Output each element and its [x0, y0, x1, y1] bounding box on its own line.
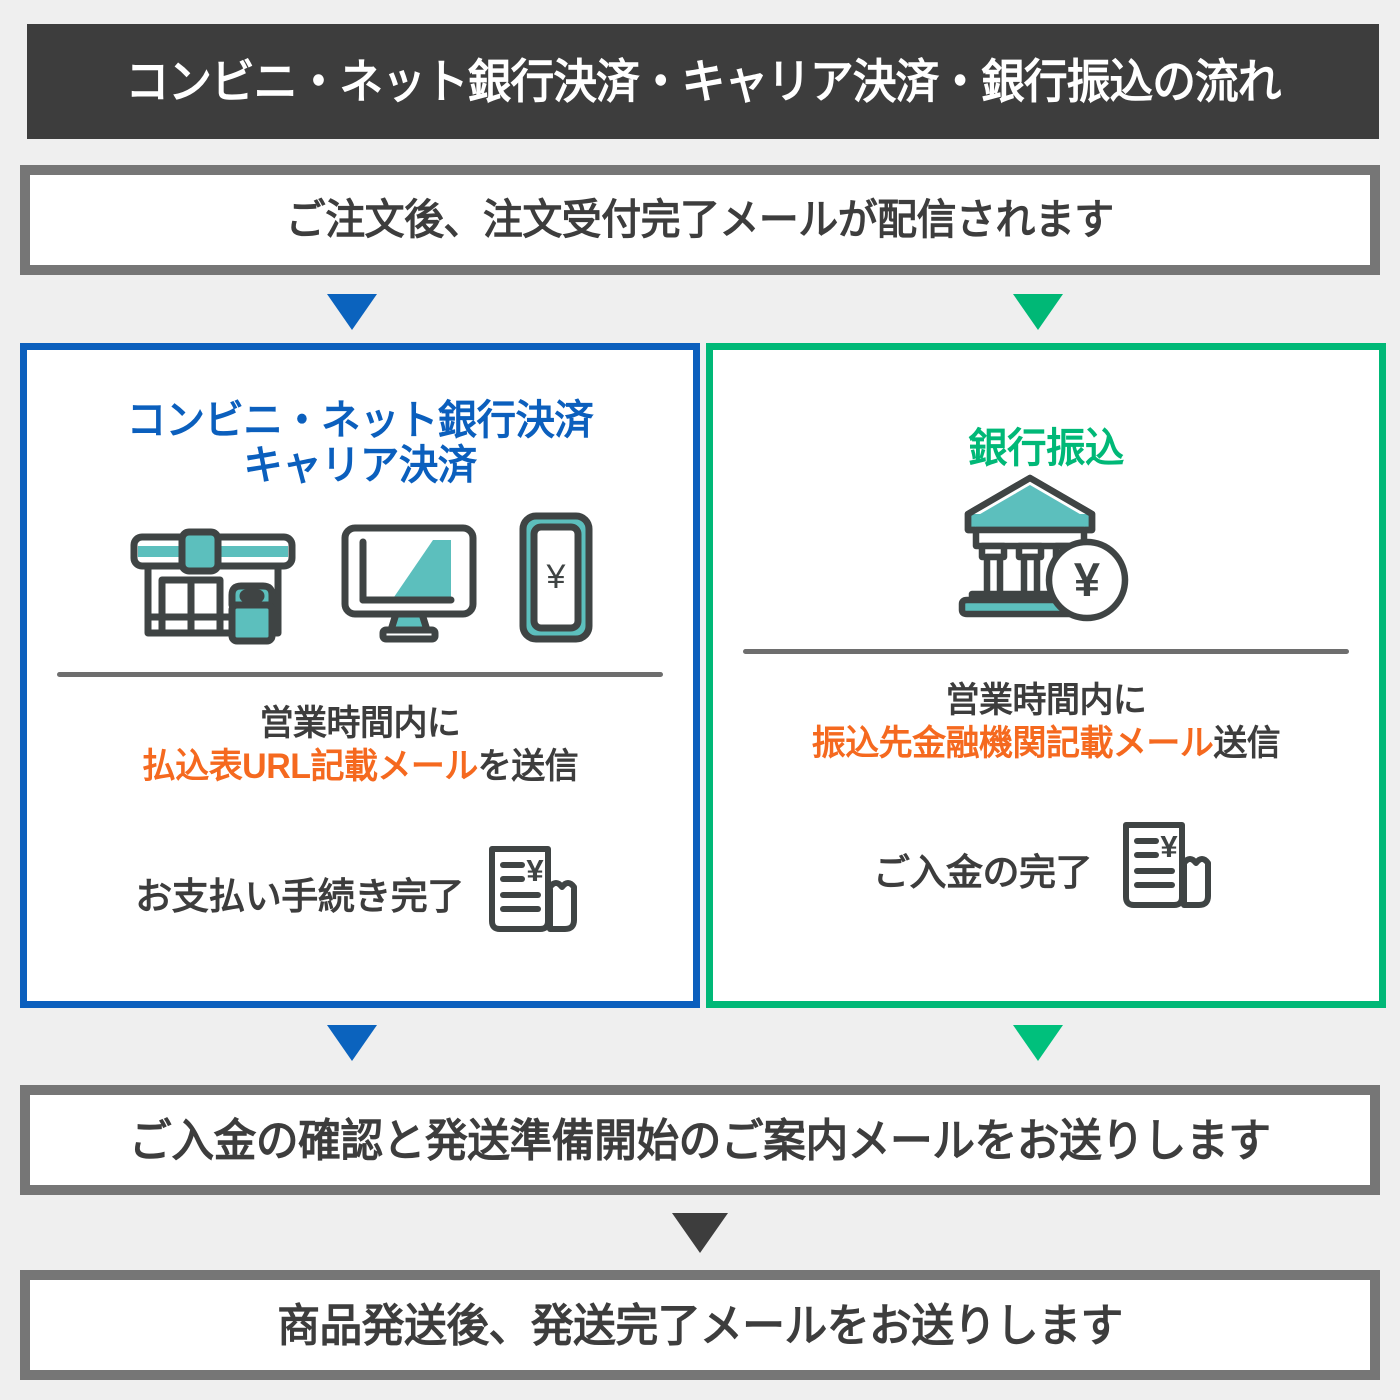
invoice-yen-symbol: ¥ [1160, 829, 1178, 864]
conveni-icon-row: ¥ [27, 510, 693, 650]
conveni-completion-row: お支払い手続き完了 ¥ [27, 843, 693, 943]
desktop-monitor-icon [339, 520, 479, 650]
conveni-completion-label: お支払い手続き完了 [135, 866, 464, 920]
conveni-note-highlight: 払込表URL記載メール [142, 747, 478, 786]
payment-flow-diagram: コンビニ・ネット銀行決済・キャリア決済・銀行振込の流れ ご注文後、注文受付完了メ… [0, 0, 1400, 1400]
step-payment-confirmed-label: ご入金の確認と発送準備開始のご案内メールをお送りします [129, 1118, 1270, 1163]
bank-building-yen-icon: ¥ [954, 472, 1139, 627]
convenience-store-icon [126, 525, 301, 650]
smartphone-yen-symbol: ¥ [545, 558, 565, 596]
bank-yen-symbol: ¥ [1073, 553, 1099, 606]
bank-completion-label: ご入金の完了 [873, 842, 1092, 896]
conveni-note: 営業時間内に 払込表URL記載メールを送信 [27, 703, 693, 788]
arrow-down-from-conveni-panel [327, 1025, 377, 1061]
invoice-yen-icon: ¥ [480, 843, 585, 943]
method-panel-bank-heading: 銀行振込 [713, 350, 1379, 471]
step-shipped-box: 商品発送後、発送完了メールをお送りします [20, 1270, 1380, 1380]
step-order-confirmation-box: ご注文後、注文受付完了メールが配信されます [20, 165, 1380, 275]
arrow-down-to-conveni-panel [327, 294, 377, 330]
invoice-yen-icon: ¥ [1114, 819, 1219, 919]
bank-note-highlight: 振込先金融機関記載メール [812, 724, 1214, 763]
method-panel-conveni-heading-line1: コンビニ・ネット銀行決済 [40, 398, 679, 443]
method-panel-conveni: コンビニ・ネット銀行決済 キャリア決済 [20, 343, 700, 1008]
bank-icon-row: ¥ [713, 487, 1379, 627]
invoice-yen-symbol: ¥ [526, 853, 544, 888]
diagram-title-bar: コンビニ・ネット銀行決済・キャリア決済・銀行振込の流れ [27, 24, 1379, 139]
smartphone-yen-icon: ¥ [517, 510, 595, 650]
page-title: コンビニ・ネット銀行決済・キャリア決済・銀行振込の流れ [125, 58, 1280, 105]
method-panel-conveni-heading-line2: キャリア決済 [40, 443, 679, 488]
bank-note: 営業時間内に 振込先金融機関記載メール送信 [713, 680, 1379, 765]
method-panel-bank-heading-line1: 銀行振込 [726, 426, 1365, 471]
method-panel-bank: 銀行振込 [706, 343, 1386, 1008]
arrow-down-from-bank-panel [1013, 1025, 1063, 1061]
conveni-note-line1: 営業時間内に [37, 703, 683, 746]
conveni-note-suffix: を送信 [478, 747, 578, 786]
bank-panel-divider [743, 649, 1349, 654]
bank-note-line1: 営業時間内に [723, 680, 1369, 723]
arrow-down-to-shipped [672, 1213, 728, 1253]
conveni-note-line2: 払込表URL記載メールを送信 [37, 746, 683, 789]
step-order-confirmation-label: ご注文後、注文受付完了メールが配信されます [286, 199, 1114, 241]
step-shipped-label: 商品発送後、発送完了メールをお送りします [277, 1303, 1123, 1348]
method-panel-conveni-heading: コンビニ・ネット銀行決済 キャリア決済 [27, 350, 693, 488]
bank-completion-row: ご入金の完了 ¥ [713, 819, 1379, 919]
arrow-down-to-bank-panel [1013, 294, 1063, 330]
conveni-panel-divider [57, 672, 663, 677]
bank-note-suffix: 送信 [1213, 724, 1280, 763]
bank-note-line2: 振込先金融機関記載メール送信 [723, 723, 1369, 766]
step-payment-confirmed-box: ご入金の確認と発送準備開始のご案内メールをお送りします [20, 1085, 1380, 1195]
